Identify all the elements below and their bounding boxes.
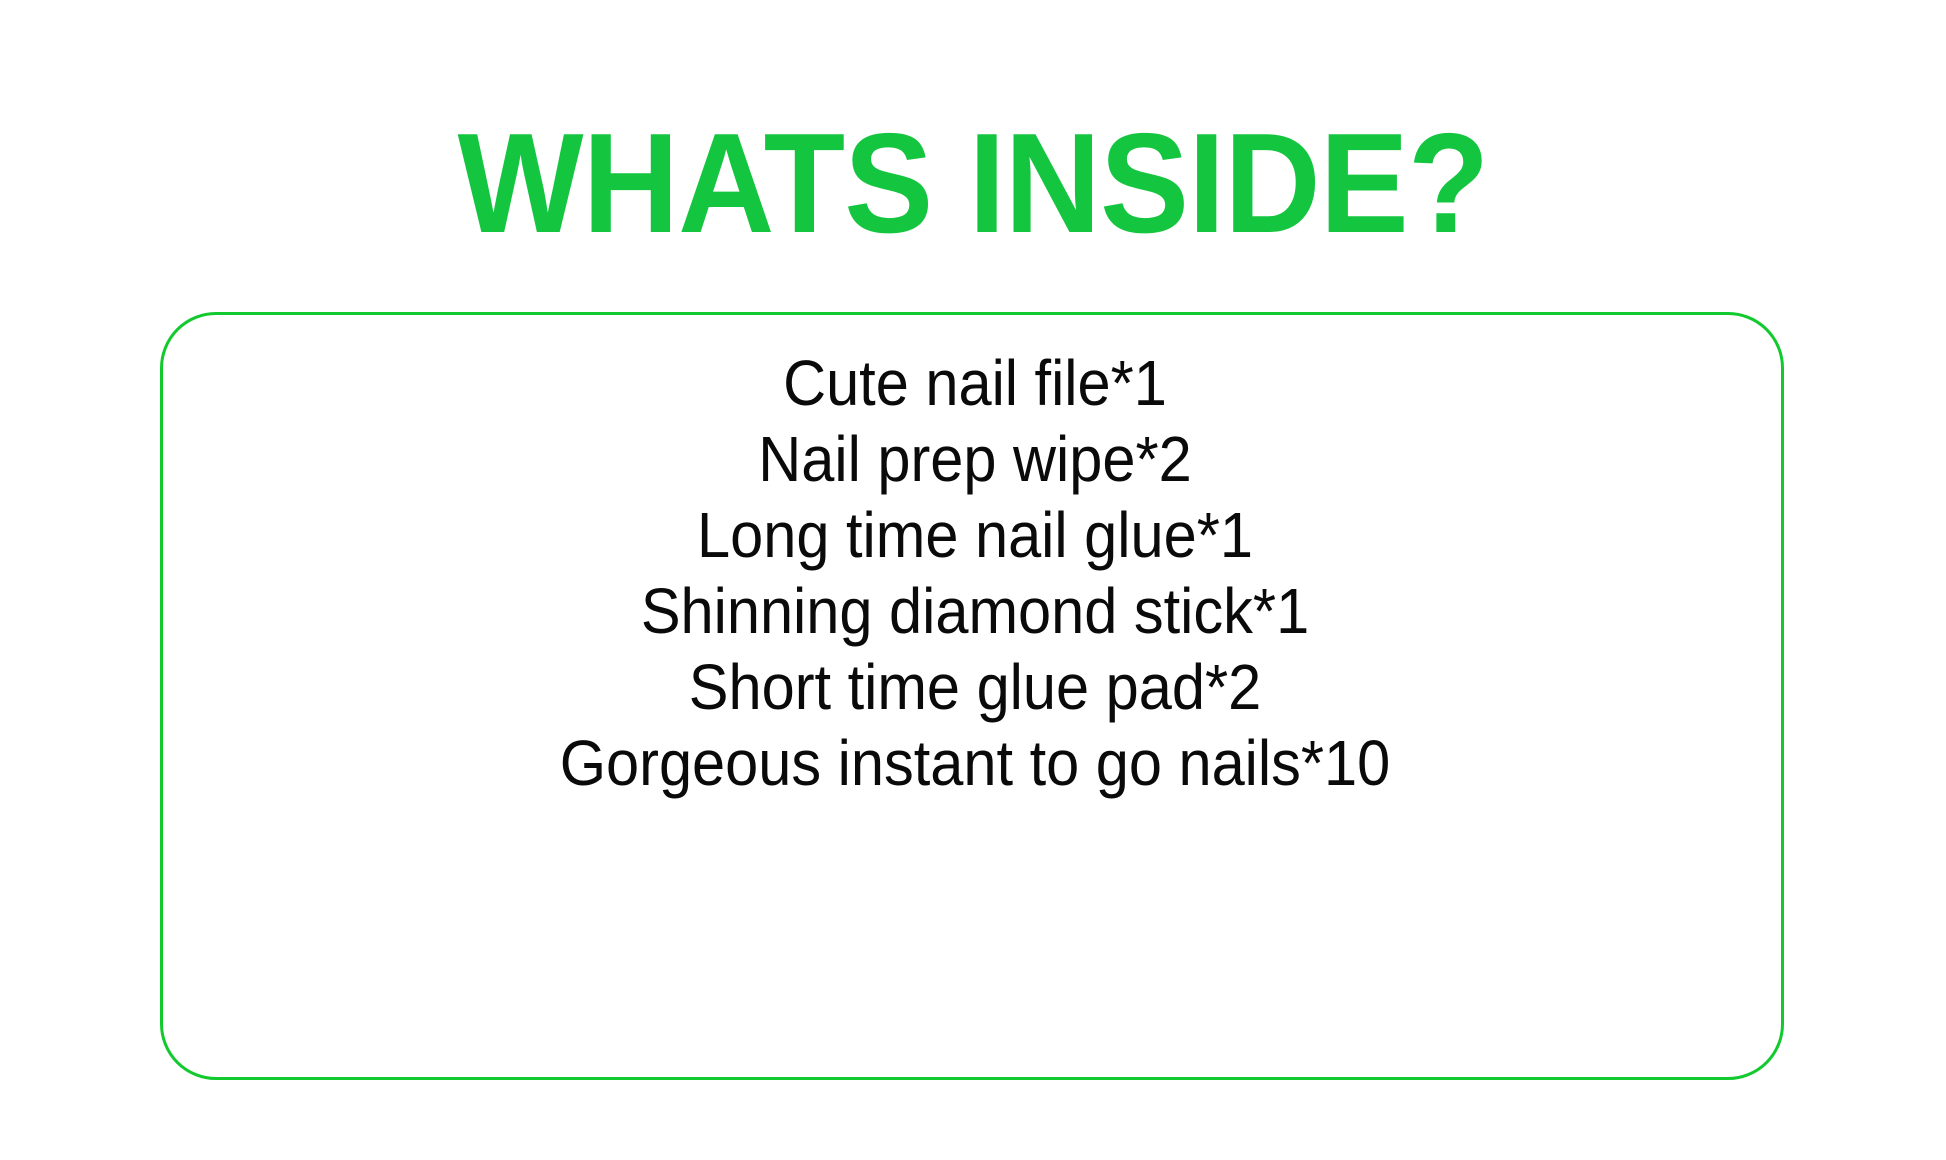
list-item: Long time nail glue*1 [220,497,1730,573]
whats-inside-poster: WHATS INSIDE? Cute nail file*1 Nail prep… [0,0,1946,1160]
contents-card: Cute nail file*1 Nail prep wipe*2 Long t… [160,312,1784,1080]
list-item: Gorgeous instant to go nails*10 [220,725,1730,801]
list-item: Nail prep wipe*2 [220,421,1730,497]
list-item: Cute nail file*1 [220,345,1730,421]
page-title: WHATS INSIDE? [58,113,1887,255]
contents-list: Cute nail file*1 Nail prep wipe*2 Long t… [163,345,1787,801]
list-item: Shinning diamond stick*1 [220,573,1730,649]
list-item: Short time glue pad*2 [220,649,1730,725]
